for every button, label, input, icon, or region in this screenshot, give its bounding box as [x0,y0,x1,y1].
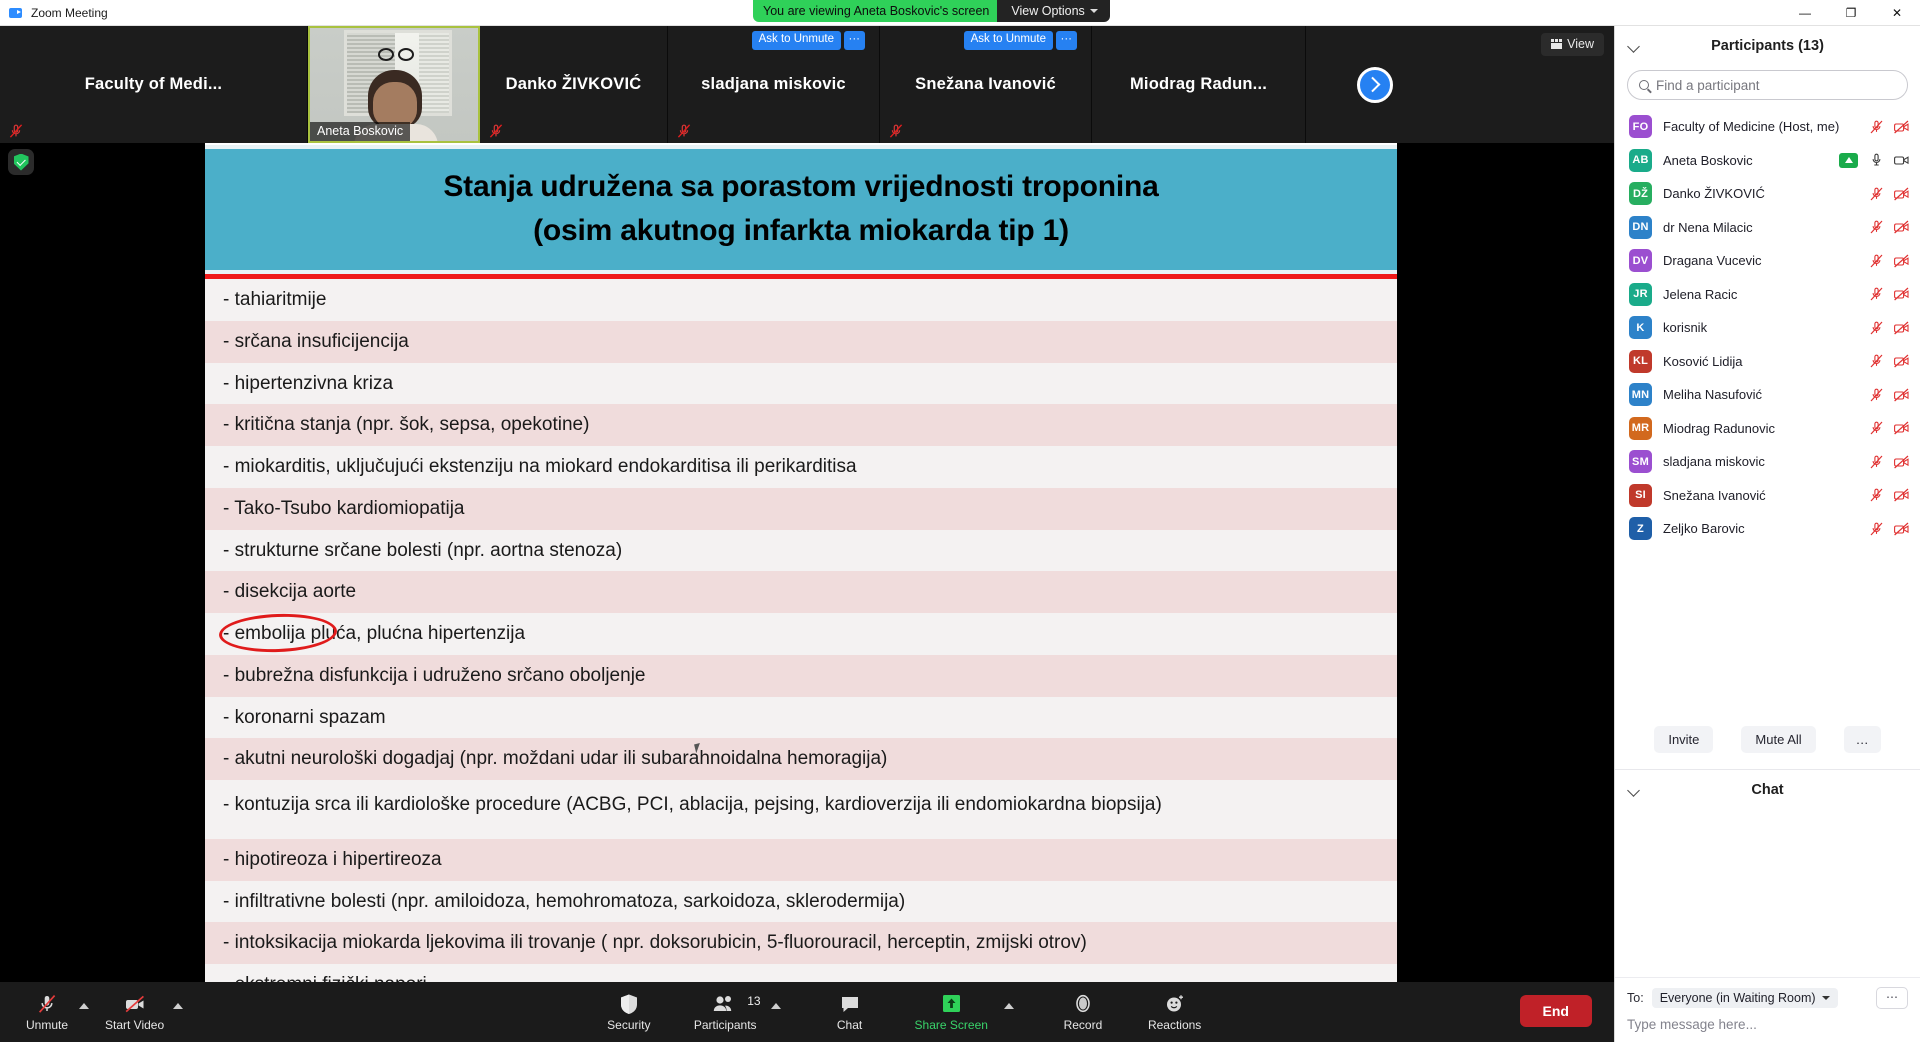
reactions-smiley-icon [1164,992,1186,1015]
ask-to-unmute-group: Ask to Unmute ··· [752,31,841,50]
participant-row[interactable]: Z Zeljko Barovic [1615,512,1920,546]
slide-list-item-text: - akutni neurološki dogadjaj (npr. možda… [223,748,887,769]
slide-list-item: - kontuzija srca ili kardiološke procedu… [205,780,1397,839]
participants-icon [712,992,738,1015]
window-controls: — ❐ ✕ [1782,0,1920,26]
ask-to-unmute-button[interactable]: Ask to Unmute [752,31,841,50]
avatar: JR [1629,283,1652,306]
participant-name: Zeljko Barovic [1663,521,1858,536]
encryption-shield-badge [8,149,34,175]
slide-list-item: - Tako-Tsubo kardiomiopatija [205,488,1397,530]
search-input[interactable] [1656,78,1896,93]
mic-muted-icon[interactable] [1869,487,1884,503]
audio-options-chevron-icon[interactable] [79,1003,89,1009]
slide-list-item: - strukturne srčane bolesti (npr. aortna… [205,530,1397,572]
chat-to-label: To: [1627,991,1644,1005]
slide-list-item: - hipotireoza i hipertireoza [205,839,1397,881]
mic-muted-icon[interactable] [1869,387,1884,403]
participant-row[interactable]: MR Miodrag Radunovic [1615,412,1920,446]
slide-list-item: - miokarditis, uključujući ekstenziju na… [205,446,1397,488]
mic-muted-icon [676,123,692,139]
mic-muted-icon[interactable] [1869,219,1884,235]
video-options-chevron-icon[interactable] [173,1003,183,1009]
slide-list-item: - tahiaritmije [205,279,1397,321]
right-side-panel: Participants (13) FO Faculty of Medicine… [1614,26,1920,1042]
participant-row[interactable]: KL Kosović Lidija [1615,345,1920,379]
video-muted-icon[interactable] [1893,387,1910,403]
avatar: MN [1629,383,1652,406]
mic-muted-icon[interactable] [1869,286,1884,302]
participant-row[interactable]: JR Jelena Racic [1615,278,1920,312]
video-muted-icon[interactable] [1893,286,1910,302]
unmute-button[interactable]: Unmute [18,992,76,1032]
chat-message-input[interactable]: Type message here... [1615,1015,1920,1042]
participant-row[interactable]: DV Dragana Vucevic [1615,244,1920,278]
participant-row[interactable]: FO Faculty of Medicine (Host, me) [1615,110,1920,144]
search-icon [1639,80,1649,90]
shared-screen-area: Stanja udružena sa porastom vrijednosti … [0,143,1614,982]
tile-more-options-button[interactable]: ··· [844,31,866,50]
ask-to-unmute-button[interactable]: Ask to Unmute [964,31,1053,50]
participant-row[interactable]: SM sladjana miskovic [1615,445,1920,479]
slide-list-item: - koronarni spazam [205,697,1397,739]
zoom-meeting-window: Zoom Meeting — ❐ ✕ You are viewing Aneta… [0,0,1920,1042]
mic-muted-icon[interactable] [1869,420,1884,436]
slide-title-line-1: Stanja udružena sa porastom vrijednosti … [235,165,1367,209]
video-strip-pager: View [1306,26,1614,143]
avatar: SM [1629,450,1652,473]
invite-button[interactable]: Invite [1654,726,1713,753]
participant-name: Jelena Racic [1663,287,1858,302]
participant-name: dr Nena Milacic [1663,220,1858,235]
video-muted-icon[interactable] [1893,454,1910,470]
slide-list-item: - hipertenzivna kriza [205,363,1397,405]
participant-name: Aneta Boskovic [1663,153,1828,168]
mic-muted-icon[interactable] [1869,119,1884,135]
avatar: K [1629,316,1652,339]
participants-button[interactable]: 13 Participants [688,992,763,1032]
reactions-button[interactable]: Reactions [1142,992,1207,1032]
chat-button[interactable]: Chat [821,992,879,1032]
security-label: Security [607,1018,650,1032]
participant-row[interactable]: AB Aneta Boskovic [1615,144,1920,178]
mic-muted-icon[interactable] [1869,353,1884,369]
video-on-icon[interactable] [1893,152,1910,168]
presentation-slide: Stanja udružena sa porastom vrijednosti … [205,143,1397,982]
view-button-label: View [1567,37,1594,51]
reactions-label: Reactions [1148,1018,1201,1032]
participant-name: sladjana miskovic [1663,454,1858,469]
meeting-toolbar: Unmute Start Video [0,982,1614,1042]
video-tile-sladjana-miskovic[interactable]: sladjana miskovic Ask to Unmute ··· [668,26,880,143]
participant-name: Meliha Nasufović [1663,387,1858,402]
end-meeting-button[interactable]: End [1520,995,1592,1027]
search-box[interactable] [1627,70,1908,100]
participant-name: Kosović Lidija [1663,354,1858,369]
mic-muted-icon[interactable] [1869,521,1884,537]
video-tile-snezana-ivanovic[interactable]: Snežana Ivanović Ask to Unmute ··· [880,26,1092,143]
mic-muted-icon[interactable] [1869,454,1884,470]
window-title: Zoom Meeting [31,6,108,20]
participants-options-chevron-icon[interactable] [771,1003,781,1009]
chat-recipient-dropdown[interactable]: Everyone (in Waiting Room) [1652,988,1838,1008]
next-page-arrow-icon[interactable] [1357,67,1393,103]
avatar: FO [1629,115,1652,138]
minimize-icon[interactable]: — [1782,0,1828,26]
share-screen-icon [939,992,963,1015]
slide-list-item: - srčana insuficijencija [205,321,1397,363]
participant-name: Faculty of Medicine (Host, me) [1663,119,1858,134]
mic-muted-icon[interactable] [1869,186,1884,202]
avatar: DN [1629,216,1652,239]
slide-list-item: - kritična stanja (npr. šok, sepsa, opek… [205,404,1397,446]
participant-name: korisnik [1663,320,1858,335]
chat-panel-title: Chat [1615,782,1920,798]
chat-more-options-button[interactable]: ⋯ [1876,987,1908,1009]
video-tile-aneta-boskovic[interactable]: Aneta Boskovic [308,26,480,143]
slide-list-item: - bubrežna disfunkcija i udruženo srčano… [205,655,1397,697]
shield-icon [619,992,639,1015]
participant-row[interactable]: K korisnik [1615,311,1920,345]
tile-name-label: Danko ŽIVKOVIĆ [500,75,648,94]
record-label: Record [1064,1018,1103,1032]
participants-panel-header: Participants (13) [1615,26,1920,66]
share-screen-label: Share Screen [915,1018,988,1032]
participants-list: FO Faculty of Medicine (Host, me) AB Ane… [1615,110,1920,712]
video-muted-icon[interactable] [1893,119,1910,135]
zoom-app-icon [8,5,24,21]
avatar: MR [1629,417,1652,440]
shield-check-icon [14,154,29,171]
video-muted-icon[interactable] [1893,253,1910,269]
chevron-down-icon [1090,9,1098,13]
mic-muted-icon[interactable] [1869,320,1884,336]
tile-name-label: Miodrag Radun... [1124,75,1273,94]
chat-messages-area [1615,810,1920,977]
slide-title: Stanja udružena sa porastom vrijednosti … [205,145,1397,274]
participant-video-strip: Faculty of Medi... Anet [0,26,1614,143]
video-muted-icon[interactable] [1893,219,1910,235]
mic-on-icon[interactable] [1869,152,1884,168]
participants-search [1615,66,1920,110]
avatar: AB [1629,149,1652,172]
participant-name: Dragana Vucevic [1663,253,1858,268]
close-icon[interactable]: ✕ [1874,0,1920,26]
tile-name-label: Snežana Ivanović [909,75,1062,94]
video-muted-icon [123,992,147,1015]
chat-bubble-icon [839,992,861,1015]
view-options-label: View Options [1011,4,1084,18]
chat-recipient-row: To: Everyone (in Waiting Room) ⋯ [1615,977,1920,1015]
avatar: SI [1629,484,1652,507]
tile-name-label: Faculty of Medi... [79,75,228,94]
tile-name-label: Aneta Boskovic [310,122,410,141]
mic-muted-icon [8,123,24,139]
participant-row[interactable]: MN Meliha Nasufović [1615,378,1920,412]
slide-list-item-highlighted: - embolija pluća, plućna hipertenzija [205,613,1397,655]
participants-label: Participants [694,1018,757,1032]
view-options-button[interactable]: View Options [997,0,1109,22]
video-tile-miodrag-radunovic[interactable]: Miodrag Radun... [1092,26,1306,143]
record-icon [1072,992,1094,1015]
maximize-icon[interactable]: ❐ [1828,0,1874,26]
ask-to-unmute-group: Ask to Unmute ··· [964,31,1053,50]
screen-share-banner: You are viewing Aneta Boskovic's screen … [753,0,1110,22]
mic-muted-icon[interactable] [1869,253,1884,269]
record-button[interactable]: Record [1054,992,1112,1032]
security-button[interactable]: Security [600,992,658,1032]
grid-view-icon [1551,39,1562,49]
start-video-label: Start Video [105,1018,164,1032]
slide-list-item: - akutni neurološki dogadjaj (npr. možda… [205,738,1397,780]
video-muted-icon[interactable] [1893,186,1910,202]
mic-muted-icon [888,123,904,139]
video-muted-icon[interactable] [1893,353,1910,369]
slide-list-item: - ekstremni fizički napori [205,964,1397,982]
participants-panel-title: Participants (13) [1615,38,1920,54]
screen-sharing-badge-icon [1839,153,1858,168]
avatar: Z [1629,517,1652,540]
avatar: DŽ [1629,182,1652,205]
participant-name: Miodrag Radunovic [1663,421,1858,436]
viewing-screen-label: You are viewing Aneta Boskovic's screen [753,0,999,22]
chat-recipient-value: Everyone (in Waiting Room) [1660,991,1816,1005]
video-muted-icon[interactable] [1893,521,1910,537]
slide-list-item-text: - embolija pluća, plućna hipertenzija [223,623,525,644]
video-muted-icon[interactable] [1893,320,1910,336]
participants-count-badge: 13 [747,994,760,1008]
participant-row[interactable]: SI Snežana Ivanović [1615,479,1920,513]
participant-row[interactable]: DŽ Danko ŽIVKOVIĆ [1615,177,1920,211]
video-tile-danko-zivkovic[interactable]: Danko ŽIVKOVIĆ [480,26,668,143]
share-options-chevron-icon[interactable] [1004,1003,1014,1009]
video-muted-icon[interactable] [1893,420,1910,436]
mic-muted-icon [36,992,58,1015]
slide-list-item: - intoksikacija miokarda ljekovima ili t… [205,922,1397,964]
share-screen-button[interactable]: Share Screen [909,992,994,1032]
mute-all-button[interactable]: Mute All [1741,726,1815,753]
view-layout-button[interactable]: View [1541,33,1604,56]
slide-list-item: - disekcija aorte [205,571,1397,613]
tile-more-options-button[interactable]: ··· [1056,31,1078,50]
video-tile-faculty[interactable]: Faculty of Medi... [0,26,308,143]
participants-actions: Invite Mute All … [1615,712,1920,770]
participant-name: Danko ŽIVKOVIĆ [1663,186,1858,201]
mic-muted-icon [488,123,504,139]
slide-title-line-2: (osim akutnog infarkta miokarda tip 1) [235,209,1367,253]
chat-panel-header: Chat [1615,770,1920,810]
start-video-button[interactable]: Start Video [99,992,170,1032]
unmute-label: Unmute [26,1018,68,1032]
video-muted-icon[interactable] [1893,487,1910,503]
avatar: KL [1629,350,1652,373]
participants-more-button[interactable]: … [1844,726,1881,753]
chat-label: Chat [837,1018,862,1032]
avatar: DV [1629,249,1652,272]
chevron-down-icon [1822,996,1830,1000]
slide-list-item: - infiltrativne bolesti (npr. amiloidoza… [205,881,1397,923]
slide-bullet-list: - tahiaritmije - srčana insuficijencija … [205,279,1397,982]
tile-name-label: sladjana miskovic [695,75,852,94]
participant-row[interactable]: DN dr Nena Milacic [1615,211,1920,245]
participant-name: Snežana Ivanović [1663,488,1858,503]
